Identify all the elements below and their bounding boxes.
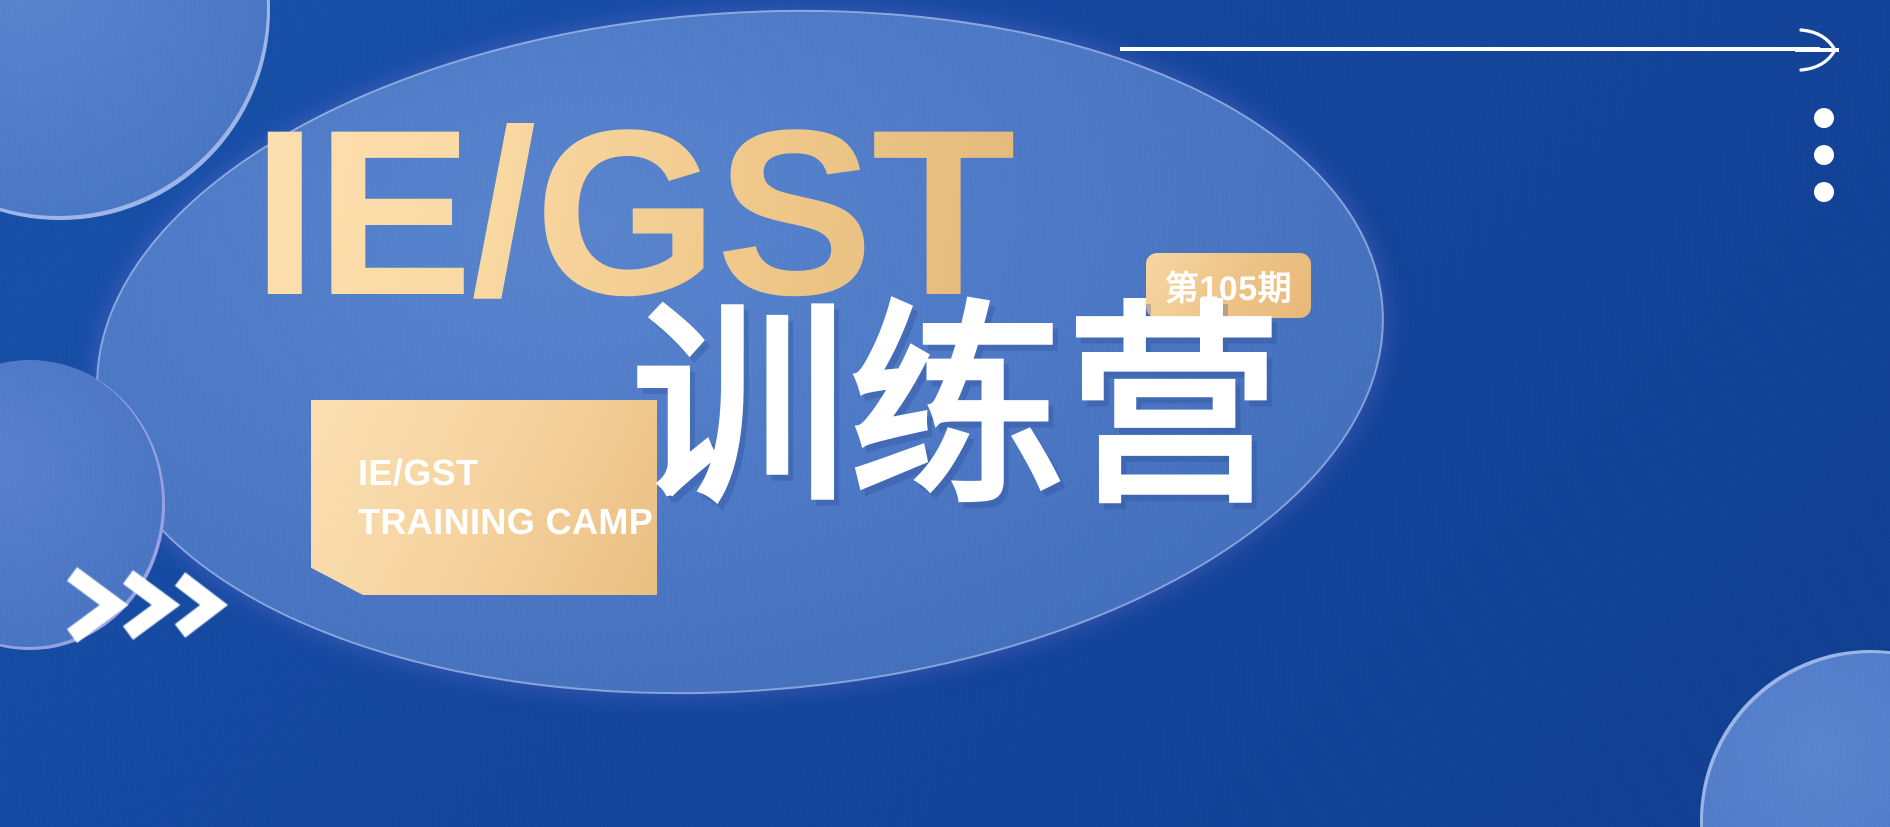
dot-icon-1: [1814, 108, 1834, 128]
dots-decoration: [1814, 108, 1834, 202]
chevron-icon-2: [128, 577, 166, 633]
circle-bottom-right-shape: [1700, 650, 1890, 827]
chevron-icon-1: [72, 574, 114, 636]
camp-line-primary: IE/GST: [358, 449, 657, 498]
arrow-line-icon: [1120, 47, 1820, 51]
dot-icon-2: [1814, 145, 1834, 165]
dot-icon-3: [1814, 182, 1834, 202]
promo-banner: IE/GST 第105期 IE/GST TRAINING CAMP 训练营: [0, 0, 1890, 827]
chevrons-decoration: [62, 560, 237, 650]
camp-line-secondary: TRAINING CAMP: [358, 498, 657, 547]
chevron-icon-3: [180, 579, 214, 631]
training-camp-box: IE/GST TRAINING CAMP: [311, 400, 657, 595]
chinese-headline: 训练营: [632, 300, 1283, 515]
right-arrow-icon: [1795, 10, 1865, 90]
